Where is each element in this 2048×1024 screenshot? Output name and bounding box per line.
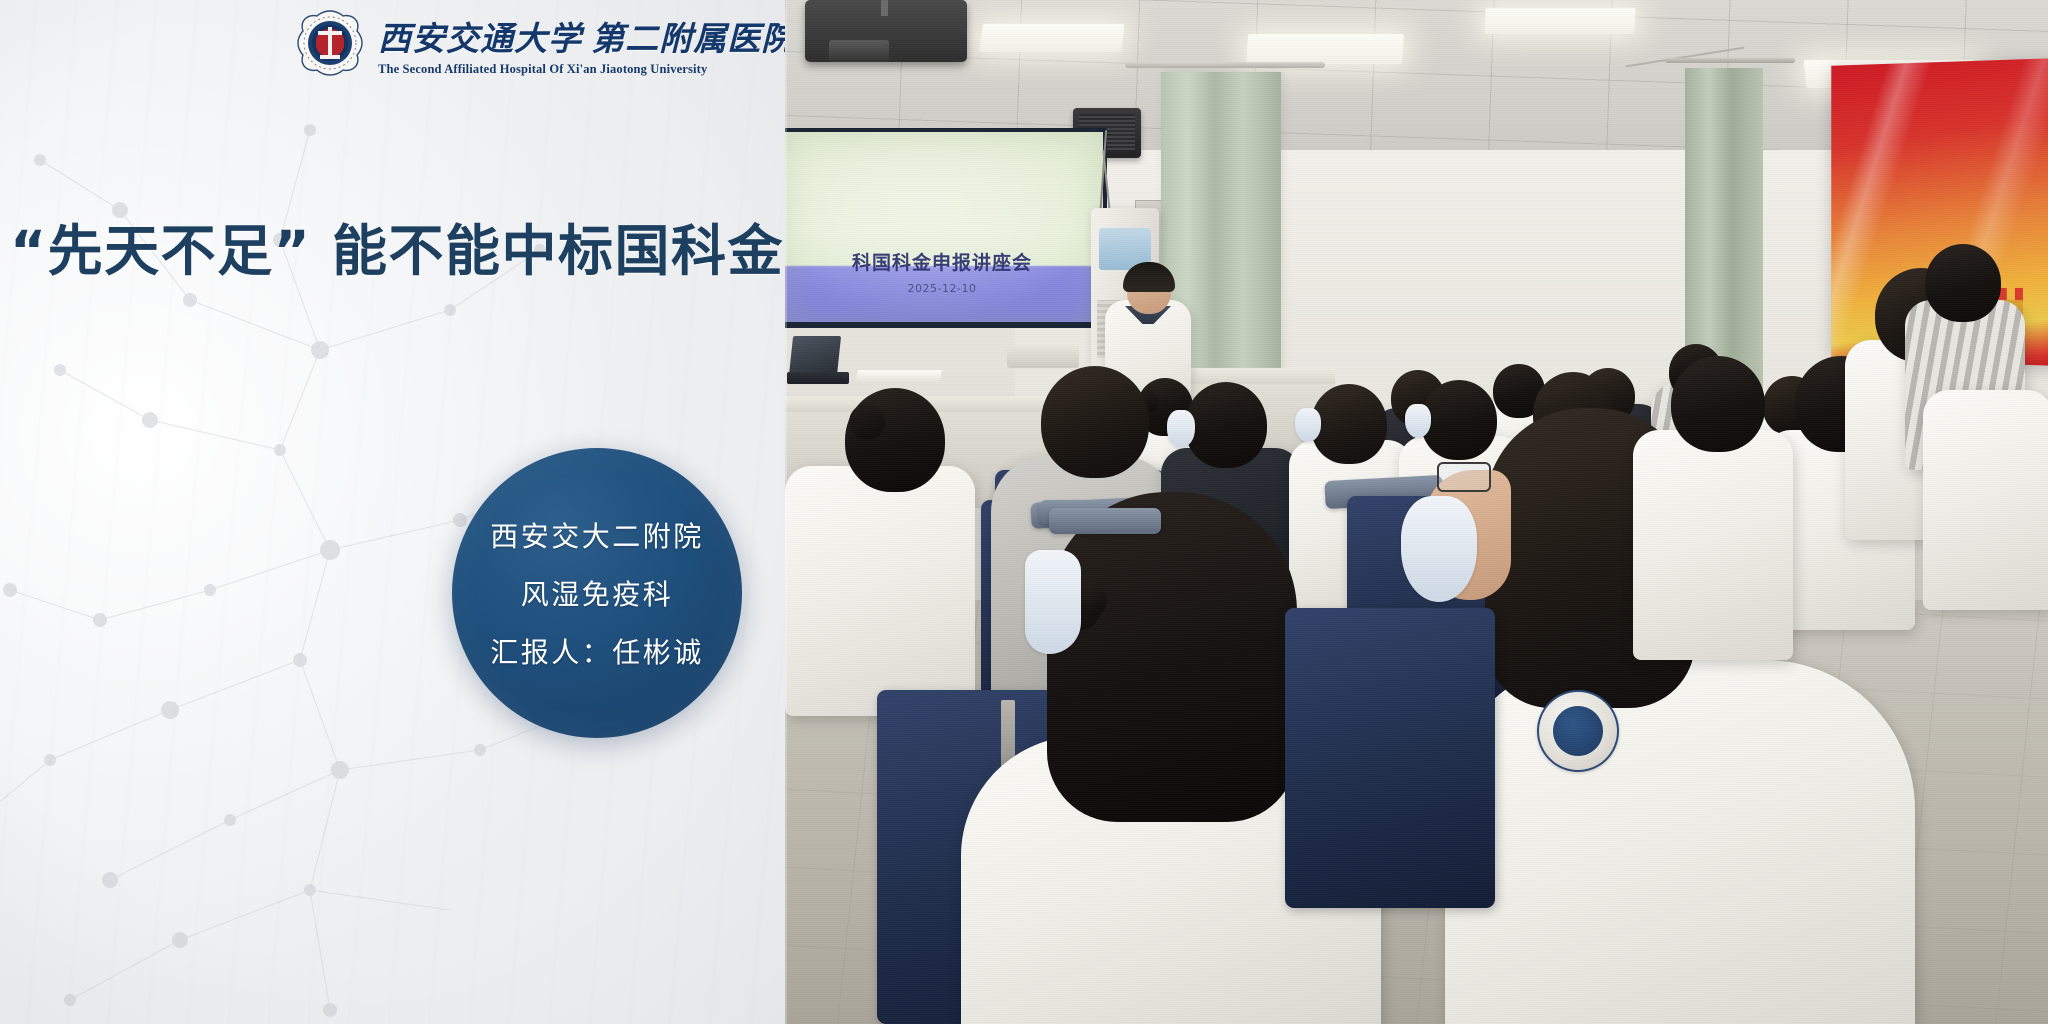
- attendee: [1633, 430, 1793, 660]
- projected-slide-heading: 科国科金申报讲座会: [785, 248, 1103, 275]
- presentation-photo-composite: 西安交通大学 第二附属医院（西北医院） The Second Affiliate…: [0, 0, 2048, 1024]
- presenter-institution: 西安交大二附院: [490, 515, 704, 555]
- face-mask: [1025, 550, 1081, 654]
- chair: [1285, 608, 1495, 908]
- face-mask: [1401, 496, 1477, 602]
- hospital-name-cn: 西安交通大学 第二附属医院（西北医院）: [378, 12, 785, 60]
- attendee-head: [1421, 380, 1497, 460]
- attendee-head: [845, 388, 945, 492]
- hospital-crest-badge: [1537, 690, 1619, 772]
- lecture-room-photo: 科国科金申报讲座会 2025-12-10: [785, 0, 2048, 1024]
- attendee-head: [1047, 492, 1297, 822]
- pane-divider: [785, 0, 787, 1024]
- hair-bun: [1077, 586, 1107, 616]
- presentation-slide: 西安交通大学 第二附属医院（西北医院） The Second Affiliate…: [0, 0, 785, 1024]
- hair-bun: [849, 404, 885, 440]
- hospital-crest-icon: [296, 9, 364, 77]
- hospital-name-en: The Second Affiliated Hospital Of Xi'an …: [378, 62, 785, 77]
- presenter-laptop: [789, 336, 841, 376]
- projected-slide-date: 2025-12-10: [785, 282, 1103, 295]
- attendee-head: [1185, 382, 1267, 468]
- glasses: [1437, 462, 1491, 492]
- ceiling-light: [1246, 34, 1404, 64]
- attendee-head: [1311, 384, 1387, 464]
- attendee-head: [1671, 356, 1765, 452]
- face-mask: [1295, 408, 1321, 442]
- attendee: [1923, 390, 2048, 610]
- projector-lens: [829, 40, 889, 62]
- attendee-head: [1041, 366, 1149, 478]
- projector-mount: [881, 0, 888, 16]
- chair-armrest: [1049, 508, 1161, 534]
- attendee: [1445, 660, 1915, 1024]
- curtain-rod: [1125, 62, 1325, 68]
- presenter-name: 汇报人：任彬诚: [490, 631, 704, 671]
- microphone-receiver: [1007, 346, 1079, 368]
- hospital-header: 西安交通大学 第二附属医院（西北医院） The Second Affiliate…: [296, 8, 785, 77]
- ceiling-light: [979, 24, 1124, 52]
- presenter-badge: 西安交大二附院 风湿免疫科 汇报人：任彬诚: [452, 448, 742, 738]
- slide-title: “先天不足” 能不能中标国科金: [10, 206, 780, 286]
- face-mask: [1167, 410, 1195, 448]
- curtain-rod: [1665, 58, 1795, 63]
- papers-on-table: [856, 370, 942, 382]
- attendee: [785, 466, 975, 716]
- face-mask: [1405, 404, 1431, 438]
- laptop-base: [787, 372, 849, 384]
- presenter-department: 风湿免疫科: [521, 573, 674, 613]
- attendee-head: [1925, 244, 2001, 322]
- ceiling-light: [1484, 8, 1635, 34]
